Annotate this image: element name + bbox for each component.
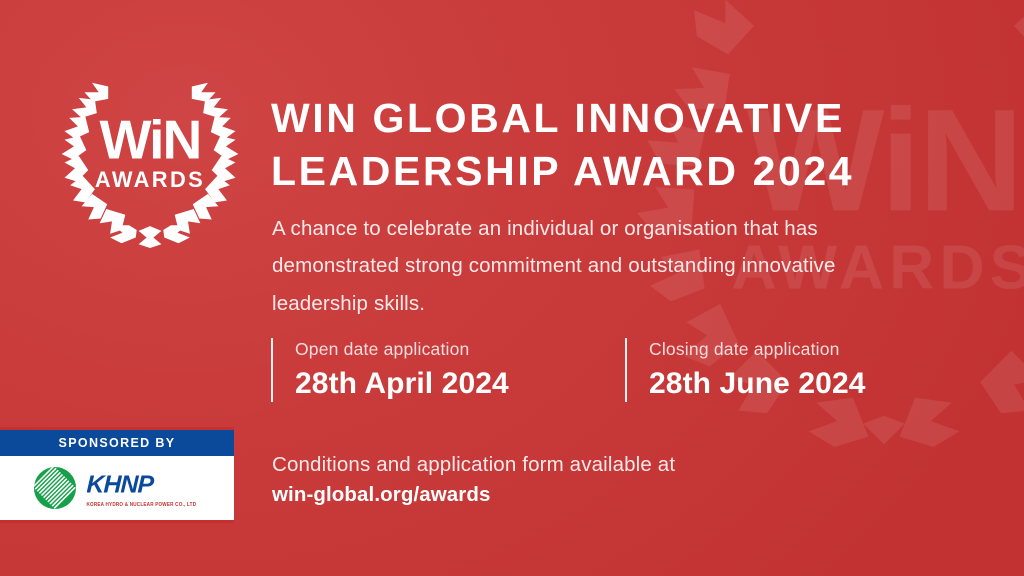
sponsor-logo: KHNP KOREA HYDRO & NUCLEAR POWER CO., LT… (0, 456, 234, 520)
closing-date-value: 28th June 2024 (649, 364, 875, 404)
sponsor-header: SPONSORED BY (0, 430, 234, 456)
closing-date-label: Closing date application (649, 336, 875, 362)
page-title: WIN GLOBAL INNOVATIVE LEADERSHIP AWARD 2… (271, 92, 961, 199)
logo-primary-text: WiN (100, 109, 201, 171)
open-date-block: Open date application 28th April 2024 (271, 336, 521, 404)
khnp-tagline: KOREA HYDRO & NUCLEAR POWER CO., LTD (87, 501, 197, 507)
award-description: A chance to celebrate an individual or o… (272, 210, 912, 322)
khnp-globe-icon (30, 463, 80, 513)
open-date-label: Open date application (295, 336, 521, 362)
divider-rule (271, 338, 273, 402)
divider-rule (625, 338, 627, 402)
cta-text: Conditions and application form availabl… (272, 450, 872, 480)
award-poster: WiN AWARDS (0, 0, 1024, 576)
cta-url[interactable]: win-global.org/awards (272, 480, 872, 511)
closing-date-block: Closing date application 28th June 2024 (625, 336, 875, 404)
svg-text:KHNP: KHNP (87, 472, 155, 499)
sponsor-card: SPONSORED BY (0, 427, 234, 523)
win-awards-logo: WiN AWARDS (55, 58, 245, 248)
key-dates: Open date application 28th April 2024 Cl… (271, 336, 875, 404)
open-date-value: 28th April 2024 (295, 364, 521, 404)
call-to-action: Conditions and application form availabl… (272, 450, 872, 510)
khnp-wordmark-group: KHNP KOREA HYDRO & NUCLEAR POWER CO., LT… (87, 470, 205, 506)
khnp-wordmark: KHNP (87, 470, 205, 500)
sponsored-by-label: SPONSORED BY (59, 436, 176, 450)
logo-secondary-text: AWARDS (95, 167, 205, 192)
